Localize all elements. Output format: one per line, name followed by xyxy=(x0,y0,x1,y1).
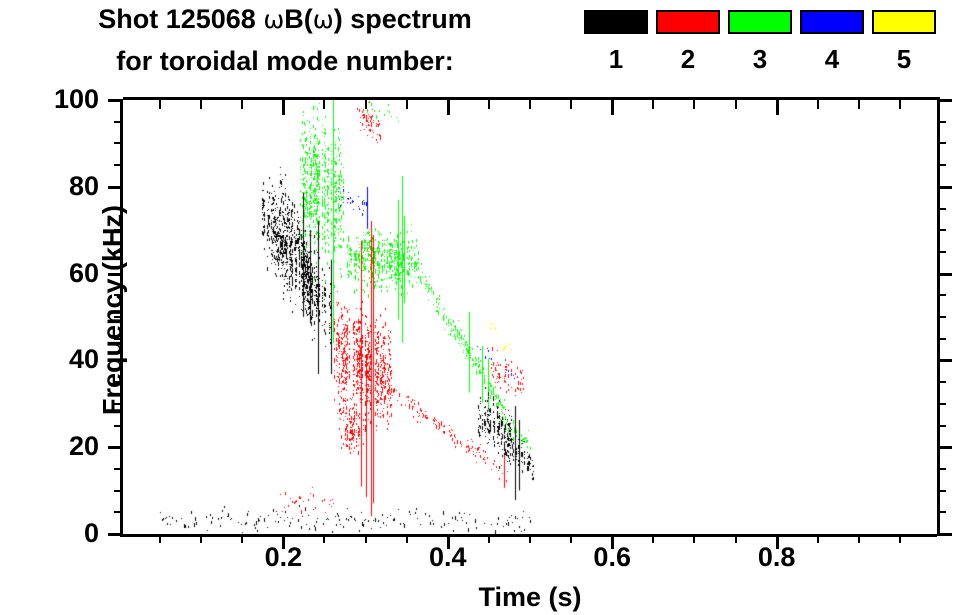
y-minor-tick xyxy=(937,229,946,231)
y-tick-label-80: 80 xyxy=(9,173,99,200)
legend-swatch-5 xyxy=(872,10,936,34)
y-tick-80 xyxy=(937,186,952,189)
y-tick-100 xyxy=(108,99,123,102)
y-minor-tick xyxy=(114,468,123,470)
x-minor-tick xyxy=(365,534,367,543)
plot-area: Frequency (kHz) Time (s) 0204060801000.2… xyxy=(120,100,937,537)
x-minor-tick-top xyxy=(200,100,202,109)
y-minor-tick xyxy=(114,229,123,231)
y-tick-20 xyxy=(108,446,123,449)
y-minor-tick xyxy=(114,121,123,123)
y-minor-tick xyxy=(114,142,123,144)
x-tick-label-0.4: 0.4 xyxy=(403,544,493,571)
y-tick-40 xyxy=(937,359,952,362)
y-tick-60 xyxy=(108,273,123,276)
x-minor-tick xyxy=(817,534,819,543)
x-minor-tick xyxy=(735,534,737,543)
x-minor-tick-top xyxy=(529,100,531,109)
legend-entry-4[interactable]: 4 xyxy=(796,0,868,72)
y-minor-tick xyxy=(114,294,123,296)
x-minor-tick xyxy=(323,534,325,543)
y-minor-tick xyxy=(937,338,946,340)
spectrogram-canvas xyxy=(123,100,937,534)
y-minor-tick xyxy=(114,316,123,318)
x-minor-tick-top xyxy=(817,100,819,109)
legend-swatch-1 xyxy=(584,10,648,34)
y-tick-80 xyxy=(108,186,123,189)
legend-entry-5[interactable]: 5 xyxy=(868,0,940,72)
x-minor-tick xyxy=(488,534,490,543)
x-minor-tick-top xyxy=(323,100,325,109)
y-minor-tick xyxy=(937,316,946,318)
y-minor-tick xyxy=(114,381,123,383)
y-minor-tick xyxy=(937,251,946,253)
y-tick-0 xyxy=(108,533,123,536)
title-text-mid: B( xyxy=(284,4,313,34)
y-minor-tick xyxy=(937,381,946,383)
title-text-pre: Shot 125068 xyxy=(98,4,263,34)
legend-label-5: 5 xyxy=(868,46,940,72)
y-tick-0 xyxy=(937,533,952,536)
x-tick-top-0.8 xyxy=(776,100,779,115)
x-minor-tick-top xyxy=(735,100,737,109)
x-minor-tick-top xyxy=(488,100,490,109)
legend-label-3: 3 xyxy=(724,46,796,72)
legend-entry-1[interactable]: 1 xyxy=(580,0,652,72)
legend-entry-2[interactable]: 2 xyxy=(652,0,724,72)
title-line-secondary: for toroidal mode number: xyxy=(0,46,570,77)
y-tick-40 xyxy=(108,359,123,362)
legend-swatch-2 xyxy=(656,10,720,34)
y-tick-label-60: 60 xyxy=(9,260,99,287)
y-minor-tick xyxy=(114,164,123,166)
x-tick-label-0.6: 0.6 xyxy=(567,544,657,571)
x-minor-tick-top xyxy=(406,100,408,109)
y-minor-tick xyxy=(937,164,946,166)
y-minor-tick xyxy=(937,121,946,123)
y-minor-tick xyxy=(937,403,946,405)
title-text-post: ) spectrum xyxy=(334,4,472,34)
x-minor-tick-top xyxy=(365,100,367,109)
y-minor-tick xyxy=(937,425,946,427)
y-minor-tick xyxy=(114,251,123,253)
x-minor-tick xyxy=(899,534,901,543)
legend: 12345 xyxy=(575,0,963,92)
x-minor-tick xyxy=(858,534,860,543)
x-minor-tick xyxy=(241,534,243,543)
y-axis-title: Frequency (kHz) xyxy=(98,205,129,415)
y-tick-label-20: 20 xyxy=(9,433,99,460)
y-tick-label-0: 0 xyxy=(9,520,99,547)
y-minor-tick xyxy=(114,403,123,405)
y-minor-tick xyxy=(937,468,946,470)
y-minor-tick xyxy=(937,490,946,492)
legend-swatch-3 xyxy=(728,10,792,34)
y-tick-label-40: 40 xyxy=(9,346,99,373)
legend-label-4: 4 xyxy=(796,46,868,72)
legend-swatch-4 xyxy=(800,10,864,34)
x-tick-top-0.6 xyxy=(611,100,614,115)
omega-symbol-1: ω xyxy=(263,5,284,34)
x-axis-title: Time (s) xyxy=(123,582,937,613)
y-tick-label-100: 100 xyxy=(9,86,99,113)
x-minor-tick-top xyxy=(652,100,654,109)
chart-title-block: Shot 125068 ωB(ω) spectrum for toroidal … xyxy=(0,0,570,92)
title-line-primary: Shot 125068 ωB(ω) spectrum xyxy=(0,4,570,35)
y-tick-20 xyxy=(937,446,952,449)
x-minor-tick xyxy=(406,534,408,543)
y-minor-tick xyxy=(114,511,123,513)
x-minor-tick xyxy=(200,534,202,543)
x-minor-tick-top xyxy=(241,100,243,109)
x-tick-label-0.8: 0.8 xyxy=(732,544,822,571)
x-minor-tick-top xyxy=(899,100,901,109)
y-minor-tick xyxy=(937,142,946,144)
y-minor-tick xyxy=(937,208,946,210)
x-minor-tick xyxy=(570,534,572,543)
x-tick-top-0.2 xyxy=(282,100,285,115)
y-minor-tick xyxy=(937,294,946,296)
y-minor-tick xyxy=(114,490,123,492)
y-minor-tick xyxy=(114,425,123,427)
x-minor-tick xyxy=(159,534,161,543)
omega-symbol-2: ω xyxy=(313,5,334,34)
y-minor-tick xyxy=(937,511,946,513)
x-minor-tick xyxy=(529,534,531,543)
x-tick-label-0.2: 0.2 xyxy=(238,544,328,571)
x-minor-tick-top xyxy=(693,100,695,109)
y-tick-60 xyxy=(937,273,952,276)
x-tick-top-0.4 xyxy=(447,100,450,115)
legend-label-2: 2 xyxy=(652,46,724,72)
x-minor-tick xyxy=(652,534,654,543)
y-tick-100 xyxy=(937,99,952,102)
y-minor-tick xyxy=(114,338,123,340)
legend-label-1: 1 xyxy=(580,46,652,72)
y-minor-tick xyxy=(114,208,123,210)
x-minor-tick-top xyxy=(858,100,860,109)
x-minor-tick-top xyxy=(570,100,572,109)
legend-entry-3[interactable]: 3 xyxy=(724,0,796,72)
x-minor-tick xyxy=(693,534,695,543)
x-minor-tick-top xyxy=(159,100,161,109)
